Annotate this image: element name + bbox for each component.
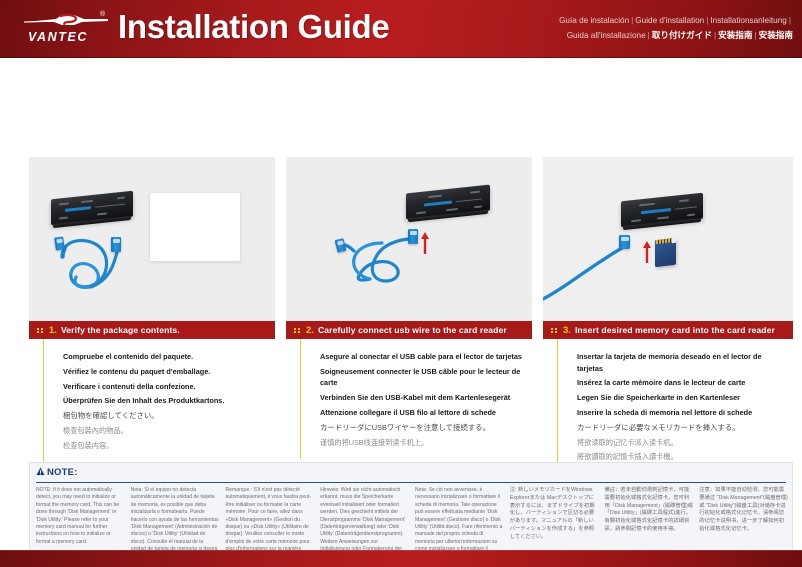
lang-ja: 取り付けガイド <box>652 30 712 40</box>
step-1-line-ja: 梱包物を確認してください。 <box>63 410 271 422</box>
step-2-body: Asegure al conectar el USB cable para el… <box>286 339 532 459</box>
header-language-list: Guía de instalación|Guide d'installation… <box>481 14 793 43</box>
step-2-line-it: Attenzione collegare il USB filo al lett… <box>320 407 528 419</box>
registered-mark: ® <box>100 11 105 18</box>
step-2-line-fr: Soigneusement connecter le USB câble pou… <box>320 366 528 389</box>
step-2-line-es: Asegure al conectar el USB cable para el… <box>320 351 528 363</box>
red-arrow-up-icon <box>643 241 651 263</box>
step-1-line-de: Überprüfen Sie den Inhalt des Produktkar… <box>63 395 271 407</box>
step-3-body: Insertar la tarjeta de memoria deseado e… <box>543 339 793 474</box>
page-footer-bar <box>0 550 802 567</box>
step-3-line-ja: カードリーダに必要なメモリカードを挿入する。 <box>577 422 789 434</box>
header-langs-row2: Guida all'installazione|取り付けガイド|安装指南|安装指… <box>481 28 793 43</box>
vantec-logo: ® VANTEC <box>22 11 114 49</box>
lang-zh-cn: 安装指南 <box>759 30 793 40</box>
step-1-line-es: Compruebe el contenido del paquete. <box>63 351 271 363</box>
sd-memory-card <box>655 238 676 268</box>
usb-plug-micro-b <box>408 229 418 244</box>
step-3-header: 3. Insert desired memory card into the c… <box>543 321 793 339</box>
step-1-line-zh-tw: 檢查包裝內的物品。 <box>63 425 271 437</box>
lang-zh-tw: 安装指南 <box>718 30 752 40</box>
usb-plug-type-a <box>54 236 65 250</box>
vantec-wordmark: VANTEC <box>28 30 88 44</box>
lang-es: Guía de instalación <box>559 16 629 25</box>
installation-guide-page: ® VANTEC Installation Guide Guía de inst… <box>0 0 802 567</box>
note-divider <box>36 482 786 483</box>
note-title: NOTE: <box>47 467 78 478</box>
page-body: 1. Verify the package contents. Comprueb… <box>0 58 802 567</box>
step-1-title: Verify the package contents. <box>61 325 180 335</box>
bullet-dots-icon <box>294 326 303 335</box>
lang-it: Guida all'installazione <box>567 31 646 40</box>
step-1-line-fr: Vérifiez le contenu du paquet d'emballag… <box>63 366 271 378</box>
step-3-line-zh-cn: 将欲读取的记忆卡派入读卡机。 <box>577 437 789 449</box>
step-1-illustration <box>29 157 275 321</box>
step-1-line-it: Verificare i contenuti della confezione. <box>63 381 271 393</box>
step-2-title: Carefully connect usb wire to the card r… <box>318 325 507 335</box>
note-header: NOTE: <box>30 463 792 481</box>
step-panel-3: 3. Insert desired memory card into the c… <box>543 157 793 474</box>
step-1-line-zh-cn: 检查包装内容。 <box>63 440 271 452</box>
page-header: ® VANTEC Installation Guide Guía de inst… <box>0 0 802 58</box>
bullet-dots-icon <box>551 326 560 335</box>
warning-icon <box>36 463 45 481</box>
step-2-illustration <box>286 157 532 321</box>
step-1-number: 1. <box>49 325 57 336</box>
header-langs-row1: Guía de instalación|Guide d'installation… <box>481 14 793 28</box>
step-2-line-ja: カードリーダにUSBワイヤーを注意して接続する。 <box>320 422 528 434</box>
step-3-line-de: Legen Sie die Speicherkarte in den Karte… <box>577 392 789 404</box>
bullet-dots-icon <box>37 326 46 335</box>
step-2-line-de: Verbinden Sie den USB-Kabel mit dem Kart… <box>320 392 528 404</box>
step-3-illustration <box>543 157 793 321</box>
usb-plug-micro-b <box>111 237 121 252</box>
step-1-body: Compruebe el contenido del paquete. Véri… <box>29 339 275 462</box>
step-2-number: 2. <box>306 325 314 336</box>
step-3-line-es: Insertar la tarjeta de memoria deseado e… <box>577 351 789 374</box>
step-3-number: 3. <box>563 325 571 336</box>
manual-booklet <box>150 193 240 261</box>
step-3-line-it: Inserire la scheda di memoria nel lettor… <box>577 407 789 419</box>
lang-de: Installationsanleitung <box>710 16 786 25</box>
step-1-header: 1. Verify the package contents. <box>29 321 275 339</box>
lang-fr: Guide d'installation <box>635 16 704 25</box>
step-2-header: 2. Carefully connect usb wire to the car… <box>286 321 532 339</box>
step-panel-2: 2. Carefully connect usb wire to the car… <box>286 157 532 459</box>
step-2-line-zh-cn: 谨慎的将USB线连接到读卡机上。 <box>320 437 528 449</box>
page-title: Installation Guide <box>118 8 389 46</box>
step-3-title: Insert desired memory card into the card… <box>575 325 775 335</box>
step-3-line-fr: Insérez la carte mémoire dans le lecteur… <box>577 377 789 389</box>
usb-plug-micro-b <box>619 235 630 249</box>
red-arrow-up-icon <box>421 232 429 254</box>
step-panel-1: 1. Verify the package contents. Comprueb… <box>29 157 275 462</box>
